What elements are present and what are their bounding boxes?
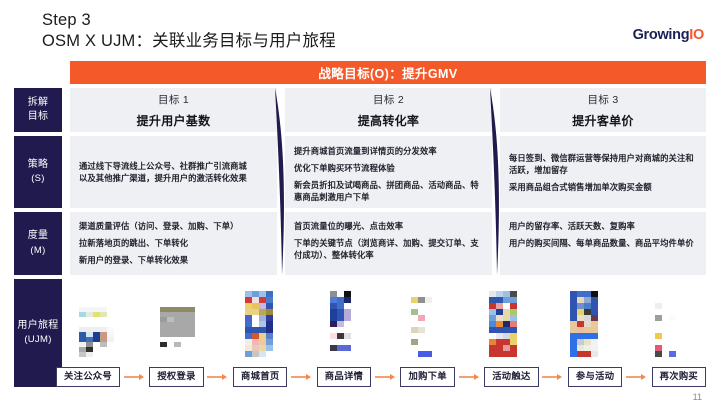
journey-step-2[interactable]: 授权登录	[149, 367, 203, 387]
pixelated-screenshot-8	[655, 297, 676, 357]
goal-card-3: 目标 3 提升客单价	[500, 88, 706, 132]
journey-step-6[interactable]: 活动触达	[484, 367, 538, 387]
page-title: Step 3 OSM X UJM：关联业务目标与用户旅程	[42, 10, 336, 52]
arrow-icon	[539, 373, 568, 381]
journey-screenshot-thumbnail	[544, 279, 625, 357]
strategy-line: 通过线下导流线上公众号、社群推广引流商城	[79, 160, 268, 172]
arrow-icon	[622, 373, 651, 381]
journey-screenshot-thumbnail	[462, 279, 543, 357]
journey-step-1[interactable]: 关注公众号	[56, 367, 120, 387]
metrics-row: 度量 (M) 渠道质量评估（访问、登录、加购、下单） 拉新落地页的跳出、下单转化…	[14, 212, 706, 275]
pixelated-screenshot-1	[79, 307, 114, 357]
arrow-icon	[371, 373, 400, 381]
pixelated-screenshot-3	[245, 291, 273, 357]
user-journey-flow: 关注公众号 授权登录 商城首页 商品详情 加购下单 活动触达 参与活动 再次购买	[56, 364, 706, 390]
pixelated-screenshot-7	[570, 291, 598, 357]
strategy-lines-1: 通过线下导流线上公众号、社群推广引流商城 以及其他推广渠道，提升用户的激活转化效…	[70, 136, 277, 208]
journey-screenshots	[56, 279, 706, 357]
metrics-cells: 渠道质量评估（访问、登录、加购、下单） 拉新落地页的跳出、下单转化 新用户的登录…	[70, 212, 706, 275]
goal-index-2: 目标 2	[373, 92, 404, 107]
strategy-line: 新会员折扣及试喝商品、拼团商品、活动商品、特惠商品刺激用户下单	[294, 179, 483, 203]
strategy-line: 每日签到、微信群运营等保持用户对商城的关注和活跃，增加留存	[509, 152, 697, 176]
step-label: Step 3	[42, 10, 336, 31]
goal-name-2: 提高转化率	[358, 112, 420, 129]
metric-line: 新用户的登录、下单转化效果	[79, 254, 268, 266]
journey-step-3[interactable]: 商城首页	[233, 367, 287, 387]
strategy-line: 以及其他推广渠道，提升用户的激活转化效果	[79, 172, 268, 184]
metrics-lines-2: 首页流量位的曝光、点击效率 下单的关键节点（浏览商详、加购、提交订单、支付成功）…	[285, 212, 492, 261]
metrics-lines-3: 用户的留存率、活跃天数、复购率 用户的购买间隔、每单商品数量、商品平均件单价	[500, 212, 706, 249]
rail-user-journey: 用户旅程 (UJM)	[14, 279, 62, 387]
rail-label-line2: (M)	[30, 244, 45, 258]
metrics-card-1: 渠道质量评估（访问、登录、加购、下单） 拉新落地页的跳出、下单转化 新用户的登录…	[70, 212, 277, 275]
rail-label-line1: 策略	[28, 158, 49, 173]
rail-strategy: 策略 (S)	[14, 136, 62, 208]
metric-line: 下单的关键节点（浏览商详、加购、提交订单、支付成功）、整体转化率	[294, 237, 483, 261]
rail-metric: 度量 (M)	[14, 212, 62, 275]
journey-step-4[interactable]: 商品详情	[317, 367, 371, 387]
arrow-icon	[455, 373, 484, 381]
rail-label-line2: (UJM)	[24, 333, 51, 347]
journey-screenshot-thumbnail	[219, 279, 300, 357]
logo-accent-text: IO	[689, 27, 704, 43]
arrow-icon	[204, 373, 233, 381]
rail-label-line1: 用户旅程	[17, 319, 58, 334]
journey-step-7[interactable]: 参与活动	[568, 367, 622, 387]
strategy-lines-2: 提升商城首页流量到详情页的分发效率 优化下单购买环节流程体验 新会员折扣及试喝商…	[285, 136, 492, 203]
strategy-line: 优化下单购买环节流程体验	[294, 162, 483, 174]
rail-label-line2: (S)	[31, 172, 45, 186]
page-number: 11	[693, 392, 702, 402]
strategy-row: 策略 (S) 通过线下导流线上公众号、社群推广引流商城 以及其他推广渠道，提升用…	[14, 136, 706, 208]
arrow-icon	[287, 373, 316, 381]
objective-banner: 战略目标(O)：提升GMV	[70, 61, 706, 84]
journey-screenshot-thumbnail	[300, 279, 381, 357]
pixelated-screenshot-5	[411, 297, 432, 357]
goal-card-2: 目标 2 提高转化率	[285, 88, 492, 132]
metrics-card-2: 首页流量位的曝光、点击效率 下单的关键节点（浏览商详、加购、提交订单、支付成功）…	[285, 212, 492, 275]
journey-step-8[interactable]: 再次购买	[652, 367, 706, 387]
strategy-lines-3: 每日签到、微信群运营等保持用户对商城的关注和活跃，增加留存 采用商品组合式销售增…	[500, 136, 706, 193]
strategy-line: 提升商城首页流量到详情页的分发效率	[294, 145, 483, 157]
title-text: OSM X UJM：关联业务目标与用户旅程	[42, 31, 336, 52]
strategy-cells: 通过线下导流线上公众号、社群推广引流商城 以及其他推广渠道，提升用户的激活转化效…	[70, 136, 706, 208]
strategy-card-2: 提升商城首页流量到详情页的分发效率 优化下单购买环节流程体验 新会员折扣及试喝商…	[285, 136, 492, 208]
metric-line: 用户的留存率、活跃天数、复购率	[509, 220, 697, 232]
rail-label-line2: 目标	[28, 110, 49, 125]
journey-screenshot-thumbnail	[137, 279, 218, 357]
strategy-card-1: 通过线下导流线上公众号、社群推广引流商城 以及其他推广渠道，提升用户的激活转化效…	[70, 136, 277, 208]
goal-name-1: 提升用户基数	[137, 112, 211, 129]
rail-decompose-goal: 拆解 目标	[14, 88, 62, 132]
arrow-icon	[120, 373, 149, 381]
metric-line: 用户的购买间隔、每单商品数量、商品平均件单价	[509, 237, 697, 249]
growingio-logo: GrowingIO	[633, 27, 704, 43]
strategy-card-3: 每日签到、微信群运营等保持用户对商城的关注和活跃，增加留存 采用商品组合式销售增…	[500, 136, 706, 208]
goal-card-1: 目标 1 提升用户基数	[70, 88, 277, 132]
goals-row: 拆解 目标 目标 1 提升用户基数 目标 2 提高转化率 目标 3 提升客单价	[14, 88, 706, 132]
slide-root: Step 3 OSM X UJM：关联业务目标与用户旅程 GrowingIO 战…	[0, 0, 720, 406]
metric-line: 拉新落地页的跳出、下单转化	[79, 237, 268, 249]
logo-primary-text: Growing	[633, 27, 690, 43]
pixelated-screenshot-4	[330, 291, 351, 357]
rail-label-line1: 拆解	[28, 96, 49, 111]
goal-name-3: 提升客单价	[572, 112, 634, 129]
journey-screenshot-thumbnail	[56, 279, 137, 357]
objective-banner-text: 战略目标(O)：提升GMV	[318, 63, 457, 82]
metric-line: 首页流量位的曝光、点击效率	[294, 220, 483, 232]
rail-label-line1: 度量	[28, 229, 49, 244]
strategy-line: 采用商品组合式销售增加单次购买金额	[509, 181, 697, 193]
metrics-lines-1: 渠道质量评估（访问、登录、加购、下单） 拉新落地页的跳出、下单转化 新用户的登录…	[70, 212, 277, 266]
goals-cells: 目标 1 提升用户基数 目标 2 提高转化率 目标 3 提升客单价	[70, 88, 706, 132]
metrics-card-3: 用户的留存率、活跃天数、复购率 用户的购买间隔、每单商品数量、商品平均件单价	[500, 212, 706, 275]
metric-line: 渠道质量评估（访问、登录、加购、下单）	[79, 220, 268, 232]
journey-screenshot-thumbnail	[381, 279, 462, 357]
pixelated-screenshot-2	[160, 307, 195, 357]
journey-step-5[interactable]: 加购下单	[400, 367, 454, 387]
goal-index-3: 目标 3	[588, 92, 619, 107]
pixelated-screenshot-6	[489, 291, 517, 357]
goal-index-1: 目标 1	[158, 92, 189, 107]
journey-screenshot-thumbnail	[625, 279, 706, 357]
